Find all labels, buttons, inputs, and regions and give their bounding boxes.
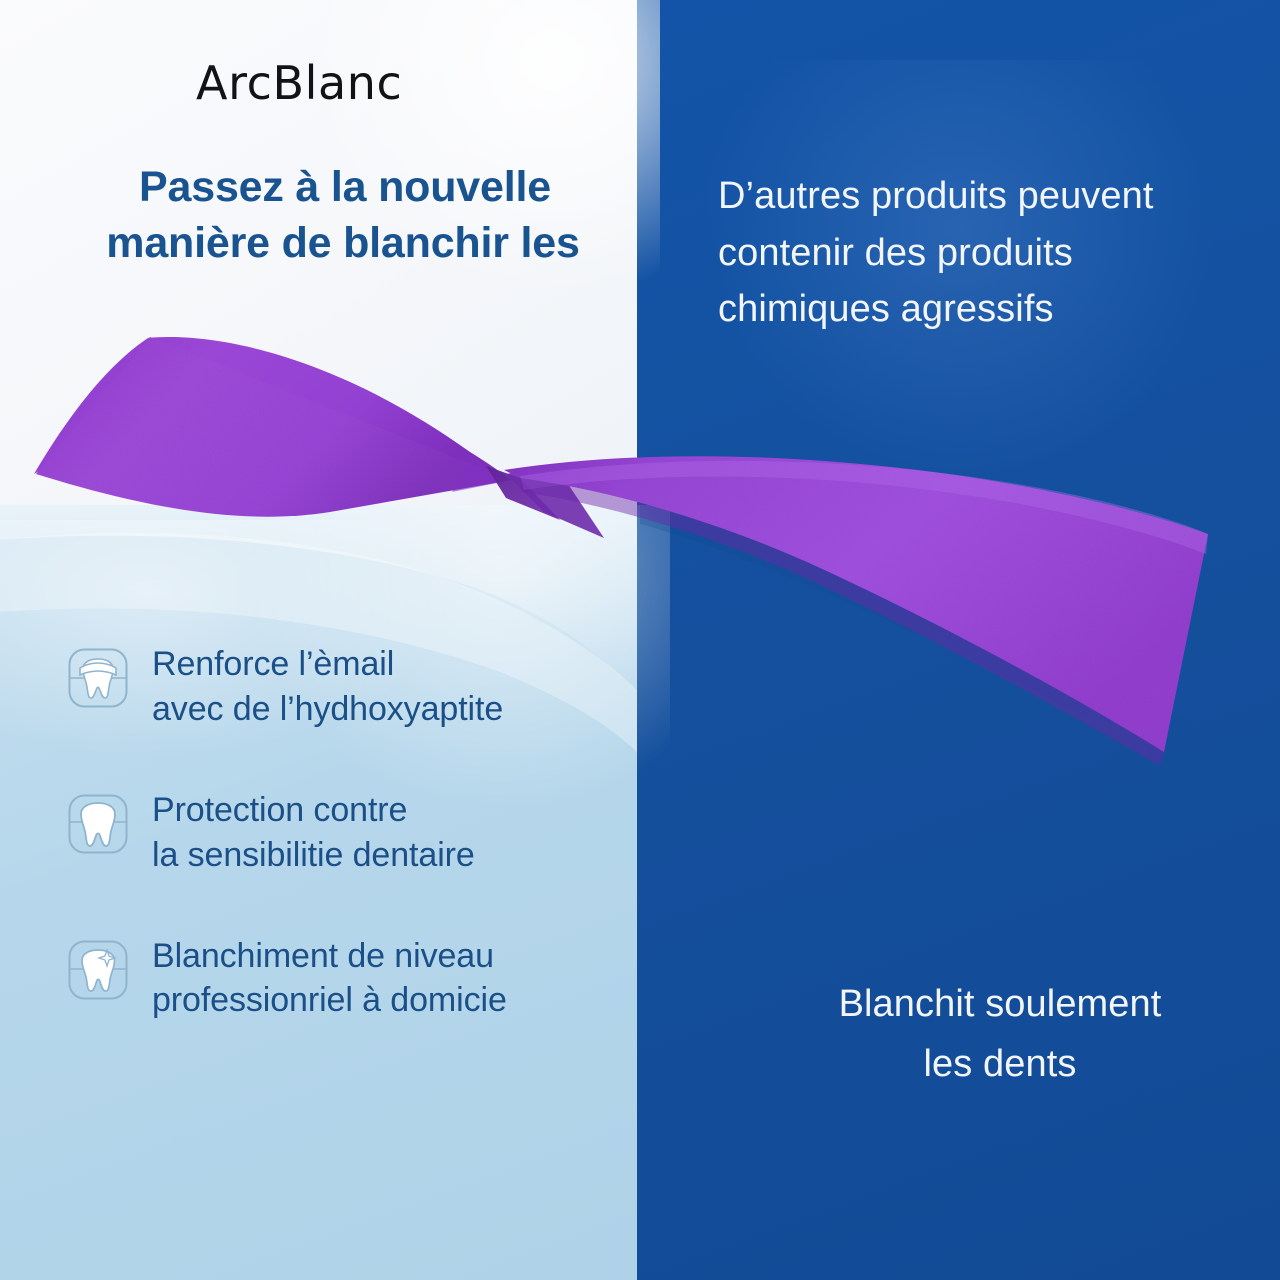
headline-line-1: Passez à la nouvelle	[82, 160, 608, 216]
benefit-text: Blanchiment de niveau professionriel à d…	[152, 934, 507, 1024]
ribbon-left-wing	[34, 337, 512, 517]
tooth-sparkle-icon	[66, 938, 130, 1002]
right-top-line-1: D’autres produits peuvent	[718, 168, 1263, 225]
right-top-line-3: chimiques agressifs	[718, 281, 1263, 338]
tooth-with-strip-icon	[66, 646, 130, 710]
benefit-line: Blanchiment de niveau	[152, 934, 507, 979]
promo-graphic: ArcBlanc Passez à la nouvelle manière de…	[0, 0, 1280, 1280]
right-top-paragraph: D’autres produits peuvent contenir des p…	[718, 168, 1263, 338]
benefit-text: Renforce l’èmail avec de l’hydhoxyaptite	[152, 642, 503, 732]
benefit-item: Protection contre la sensibilitie dentai…	[66, 788, 646, 878]
right-bottom-line-2: les dents	[690, 1035, 1280, 1095]
right-top-line-2: contenir des produits	[718, 225, 1263, 282]
right-bottom-line-1: Blanchit soulement	[690, 975, 1280, 1035]
benefit-line: Renforce l’èmail	[152, 642, 503, 687]
tooth-shield-icon	[66, 792, 130, 856]
benefit-text: Protection contre la sensibilitie dentai…	[152, 788, 475, 878]
benefit-line: professionriel à domicie	[152, 978, 507, 1023]
benefit-line: avec de l’hydhoxyaptite	[152, 687, 503, 732]
headline: Passez à la nouvelle manière de blanchir…	[78, 160, 608, 272]
benefit-item: Renforce l’èmail avec de l’hydhoxyaptite	[66, 642, 646, 732]
benefit-line: la sensibilitie dentaire	[152, 833, 475, 878]
benefit-item: Blanchiment de niveau professionriel à d…	[66, 934, 646, 1024]
right-bottom-paragraph: Blanchit soulement les dents	[690, 975, 1280, 1094]
benefits-list: Renforce l’èmail avec de l’hydhoxyaptite…	[66, 642, 646, 1079]
benefit-line: Protection contre	[152, 788, 475, 833]
brand-logo: ArcBlanc	[196, 56, 402, 110]
headline-line-2: manière de blanchir les	[78, 216, 608, 272]
